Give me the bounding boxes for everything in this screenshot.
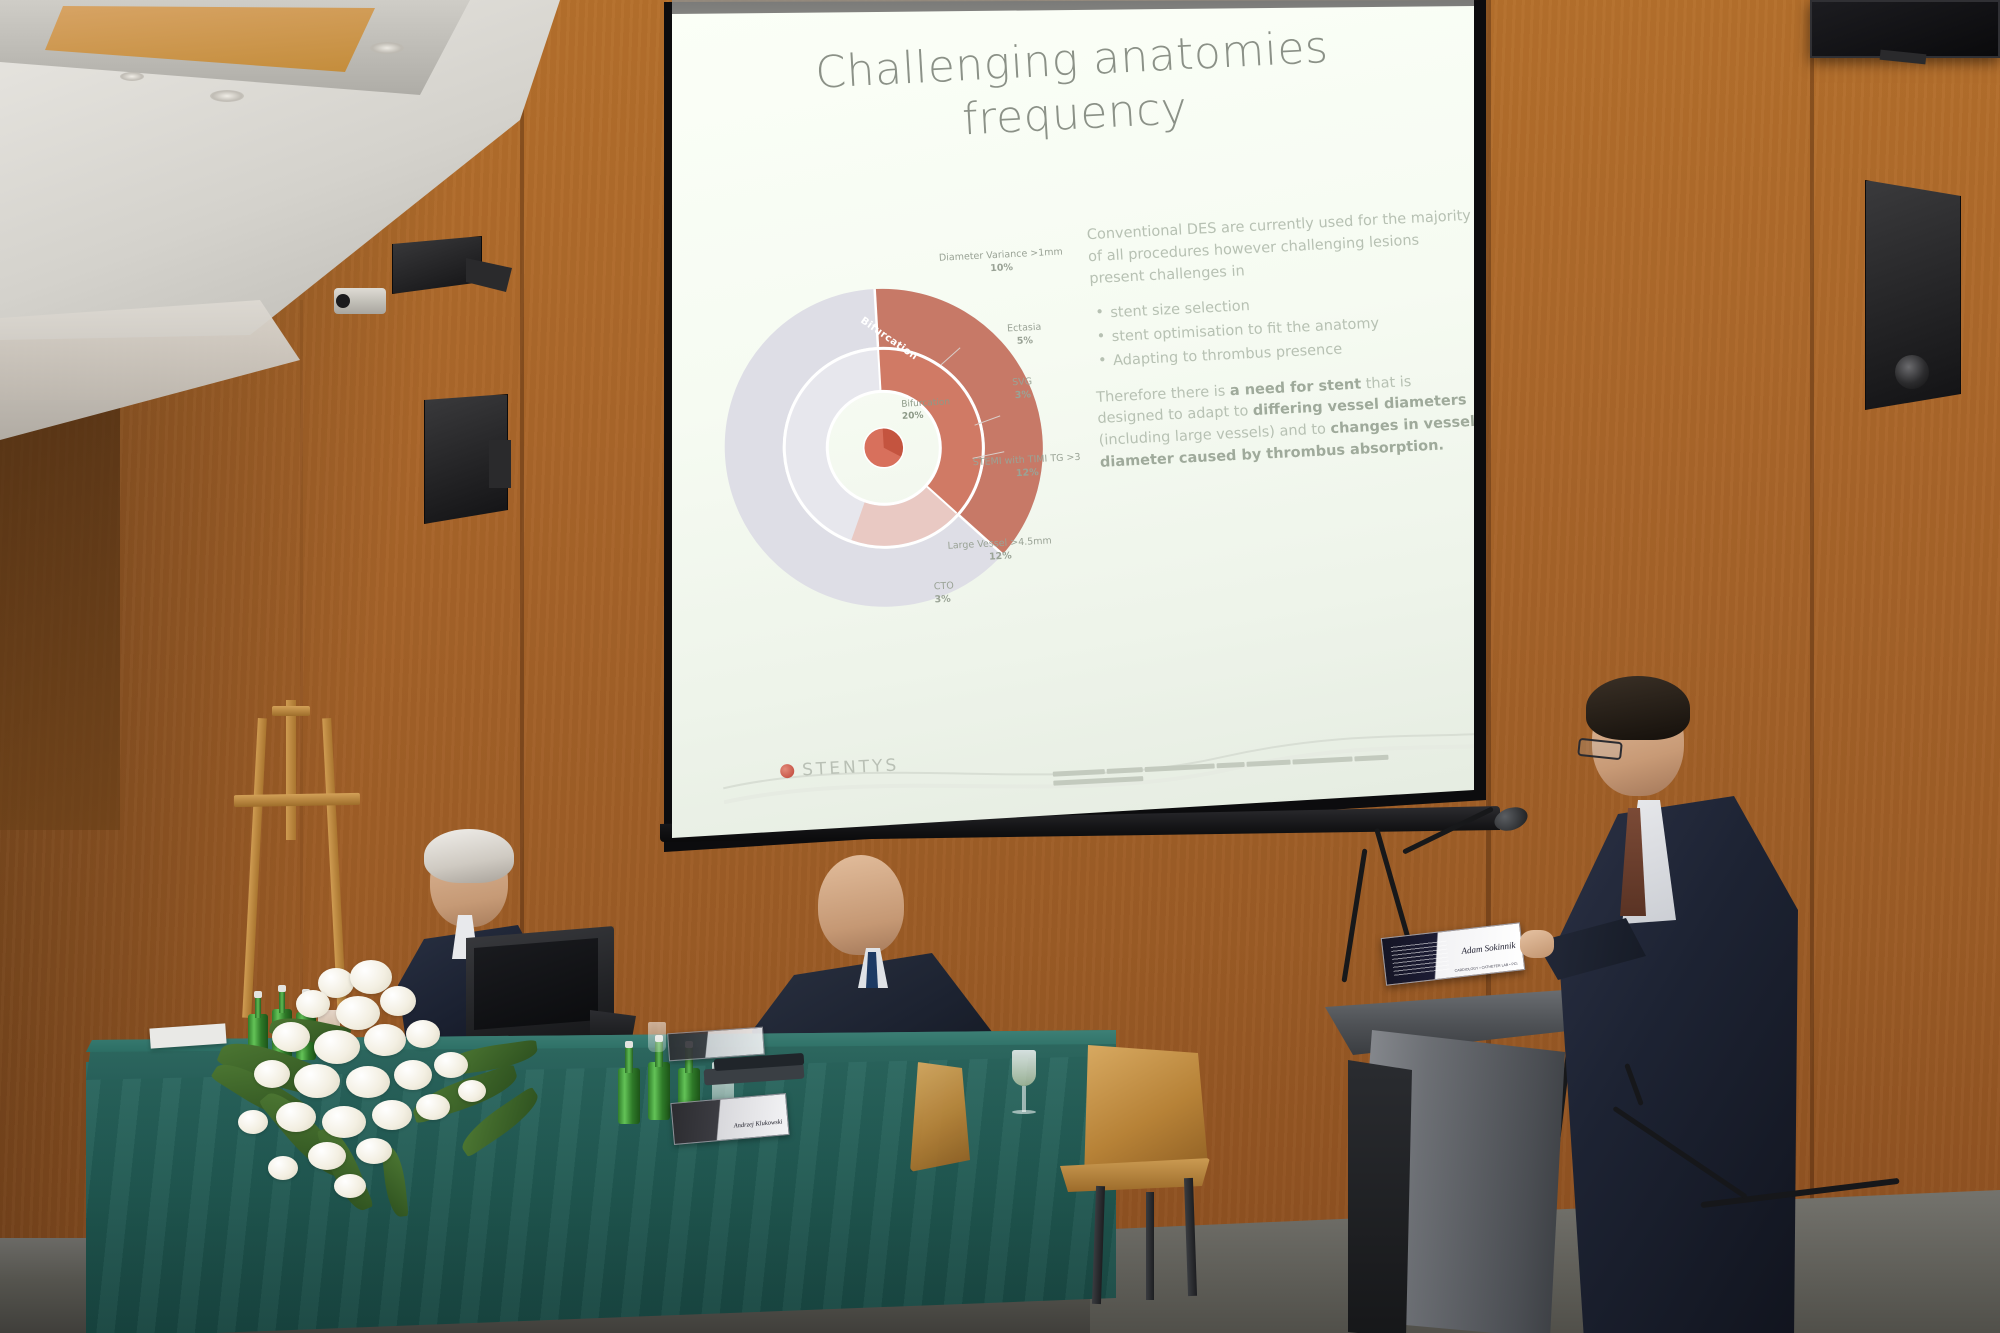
lectern-nameplate-sub: CARDIOLOGY • CATHETER LAB • PCI xyxy=(1454,962,1517,973)
easel-tray xyxy=(234,793,360,807)
glass-stem xyxy=(1022,1086,1026,1112)
champagne-glass xyxy=(1012,1050,1036,1086)
panelist-center-tie xyxy=(866,952,878,988)
chart-label-svg-text: SVG xyxy=(1012,376,1032,388)
conference-room-photo: Challenging anatomies frequency xyxy=(0,0,2000,1333)
chart-value-ectasia: 5% xyxy=(1008,334,1043,349)
chart-label-stemi: STEMI with TIMI TG >3 12% xyxy=(972,452,1081,483)
water-bottle xyxy=(618,1046,640,1124)
chart-value-svg: 3% xyxy=(1013,389,1034,403)
easel-top-clamp xyxy=(272,706,310,716)
flower-arrangement xyxy=(210,960,610,1260)
panelist-left-hair xyxy=(424,829,514,883)
table-nameplate-name: Andrzej Klukowski xyxy=(733,1118,782,1129)
chart-label-cto-text: CTO xyxy=(934,580,955,592)
chart-label-ectasia: Ectasia 5% xyxy=(1007,322,1043,349)
wall-monitor xyxy=(1810,0,2000,58)
chair-leg xyxy=(1146,1192,1154,1300)
nameplate-logo-icon xyxy=(1391,940,1450,976)
speaker-cone xyxy=(1895,355,1929,389)
chair-center-back xyxy=(910,1062,970,1172)
speaker-body xyxy=(1558,790,1798,1333)
slide-paragraph-2-run-1: a need for stent xyxy=(1229,376,1361,399)
chart-label-bifurcation-text: Bifurcation xyxy=(901,397,950,409)
speaker-hair xyxy=(1586,676,1690,740)
presentation-slide: Challenging anatomies frequency xyxy=(679,6,1474,838)
lectern-nameplate-name: Adam Sokinnik xyxy=(1461,940,1516,956)
slide-body-text: Conventional DES are currently used for … xyxy=(1086,206,1474,489)
slide-bullet-list: stent size selection stent optimisation … xyxy=(1093,285,1474,374)
chart-value-cto: 3% xyxy=(934,593,955,607)
easel-mast xyxy=(286,700,296,840)
drinking-glass xyxy=(648,1022,666,1052)
slide-paragraph-1: Conventional DES are currently used for … xyxy=(1086,206,1474,291)
chart-label-large-vessel: Large Vessel >4.5mm 12% xyxy=(947,535,1053,566)
chart-value-bifurcation: 20% xyxy=(902,409,951,424)
slide-title: Challenging anatomies frequency xyxy=(751,18,1396,158)
lectern-side-panel xyxy=(1348,1060,1412,1333)
wall-shadow-left xyxy=(0,400,120,830)
panelist-center-hair xyxy=(812,852,908,914)
camera-lens-icon xyxy=(336,294,350,308)
slide-paragraph-2-run-0: Therefore there is xyxy=(1096,383,1231,406)
wall-seam xyxy=(1810,0,1814,1240)
chart-label-cto: CTO 3% xyxy=(934,580,955,607)
glass-base xyxy=(1012,1110,1036,1114)
water-bottle xyxy=(648,1040,670,1120)
chart-label-bifurcation-inner: Bifurcation 20% xyxy=(901,396,951,423)
speaker-hand xyxy=(1520,930,1554,958)
downlight xyxy=(210,90,244,102)
downlight xyxy=(370,42,404,54)
chart-label-svg: SVG 3% xyxy=(1012,376,1033,403)
slide-paragraph-2: Therefore there is a need for stent that… xyxy=(1096,368,1474,474)
downlight xyxy=(120,72,144,81)
chart-label-ectasia-text: Ectasia xyxy=(1007,322,1042,335)
projection-screen-surface: Challenging anatomies frequency xyxy=(672,6,1474,838)
donut-chart: Bifurcation Bifurcation 20% Diameter Var… xyxy=(702,236,1126,676)
speaker-bracket xyxy=(489,440,511,488)
stentys-dot-icon xyxy=(780,764,795,779)
